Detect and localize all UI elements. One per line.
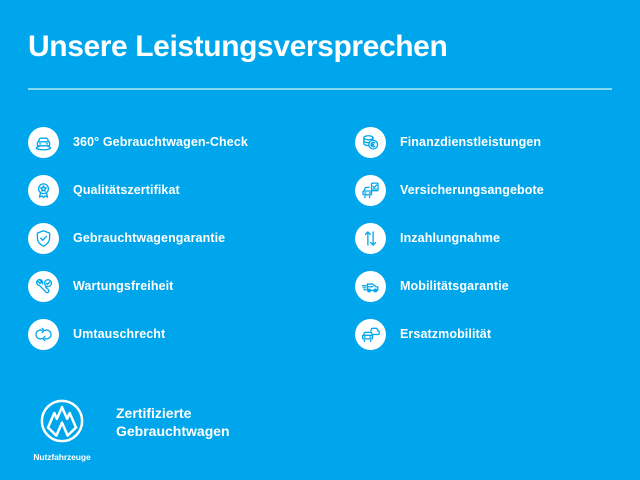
list-item-label: Gebrauchtwagengarantie	[73, 231, 225, 245]
list-item-label: Versicherungsangebote	[400, 183, 544, 197]
list-item-label: Qualitätszertifikat	[73, 183, 180, 197]
list-item: Gebrauchtwagengarantie	[28, 214, 328, 262]
quality-seal-icon	[28, 175, 59, 206]
wrench-check-icon	[28, 271, 59, 302]
car-360-check-icon	[28, 127, 59, 158]
car-document-check-icon	[355, 175, 386, 206]
list-item: Umtauschrecht	[28, 310, 328, 358]
vw-logo-icon	[39, 398, 85, 449]
vw-brand-block: Nutzfahrzeuge	[28, 398, 96, 462]
slide-root: Unsere Leistungsversprechen 360° Gebrauc…	[0, 0, 640, 480]
footer: Nutzfahrzeuge Zertifizierte Gebrauchtwag…	[28, 398, 230, 462]
list-item: Inzahlungnahme	[355, 214, 635, 262]
benefits-column-left: 360° Gebrauchtwagen-Check Qualitätszerti…	[28, 118, 328, 358]
list-item: 360° Gebrauchtwagen-Check	[28, 118, 328, 166]
list-item-label: 360° Gebrauchtwagen-Check	[73, 135, 248, 149]
van-motion-icon	[355, 271, 386, 302]
list-item-label: Mobilitätsgarantie	[400, 279, 509, 293]
page-title: Unsere Leistungsversprechen	[28, 30, 447, 64]
benefits-column-right: Finanzdienstleistungen Versicherungsange…	[355, 118, 635, 358]
list-item: Finanzdienstleistungen	[355, 118, 635, 166]
list-item: Wartungsfreiheit	[28, 262, 328, 310]
shield-check-icon	[28, 223, 59, 254]
coins-euro-icon	[355, 127, 386, 158]
footer-line-2: Gebrauchtwagen	[116, 423, 230, 441]
list-item-label: Umtauschrecht	[73, 327, 165, 341]
vw-logo-subtitle: Nutzfahrzeuge	[33, 452, 90, 462]
list-item-label: Wartungsfreiheit	[73, 279, 173, 293]
list-item: Versicherungsangebote	[355, 166, 635, 214]
list-item: Qualitätszertifikat	[28, 166, 328, 214]
two-cars-icon	[355, 319, 386, 350]
footer-line-1: Zertifizierte	[116, 405, 230, 423]
arrows-up-down-icon	[355, 223, 386, 254]
list-item: Mobilitätsgarantie	[355, 262, 635, 310]
exchange-arrows-icon	[28, 319, 59, 350]
list-item: Ersatzmobilität	[355, 310, 635, 358]
footer-text: Zertifizierte Gebrauchtwagen	[116, 405, 230, 441]
list-item-label: Ersatzmobilität	[400, 327, 491, 341]
list-item-label: Inzahlungnahme	[400, 231, 500, 245]
list-item-label: Finanzdienstleistungen	[400, 135, 541, 149]
header-divider	[28, 88, 612, 90]
